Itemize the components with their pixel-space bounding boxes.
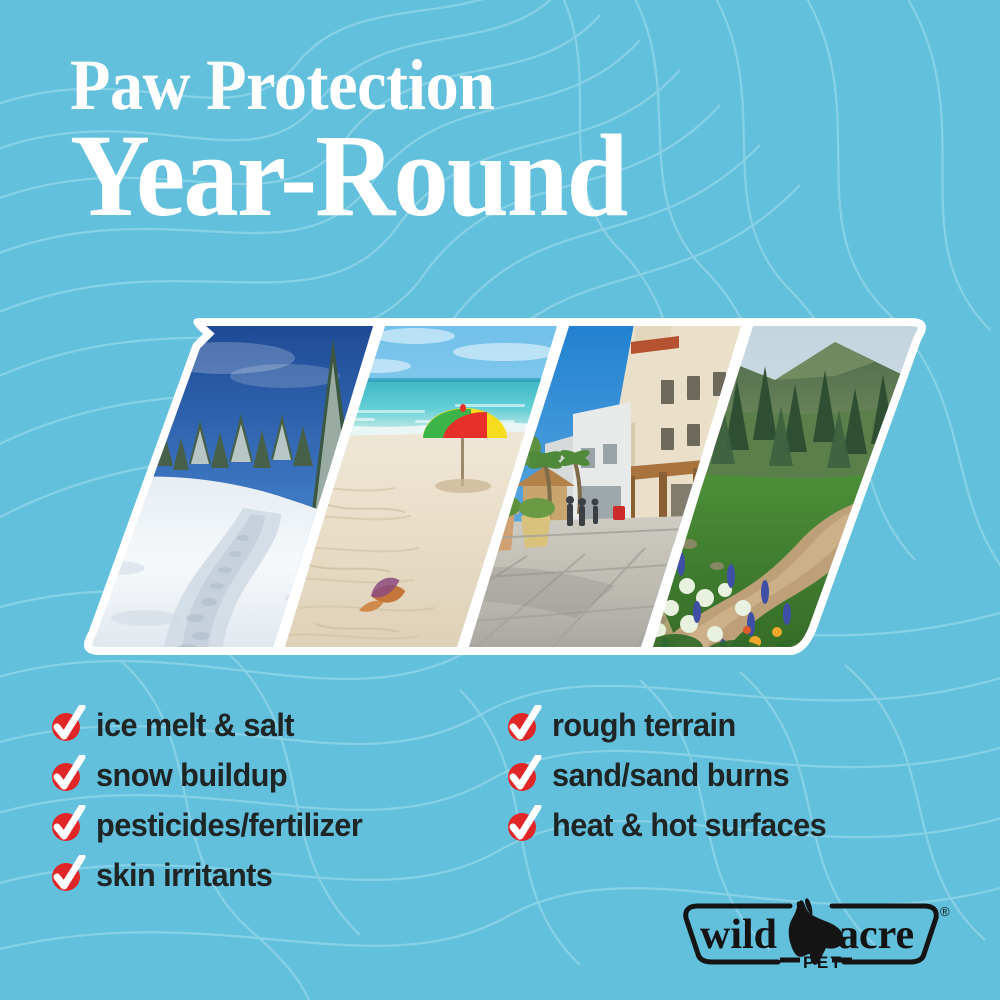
check-circle-icon bbox=[52, 860, 82, 890]
check-circle-icon bbox=[52, 810, 82, 840]
list-item-label: sand/sand burns bbox=[552, 757, 789, 794]
page-title: Paw Protection Year-Round bbox=[70, 52, 970, 232]
list-item: pesticides/fertilizer bbox=[52, 800, 512, 850]
brand-logo: wild acre PET ® bbox=[672, 898, 954, 978]
checklist-column-left: ice melt & salt snow buildup pesticides/… bbox=[52, 700, 512, 900]
headline-line-1: Paw Protection bbox=[70, 52, 898, 119]
check-circle-icon bbox=[52, 710, 82, 740]
logo-word-right: acre bbox=[838, 912, 914, 958]
headline-line-2: Year-Round bbox=[70, 121, 916, 232]
list-item: rough terrain bbox=[508, 700, 978, 750]
checklist-column-right: rough terrain sand/sand burns heat & hot… bbox=[508, 700, 978, 850]
logo-subtitle: PET bbox=[803, 953, 844, 972]
check-circle-icon bbox=[508, 810, 538, 840]
list-item-label: ice melt & salt bbox=[96, 707, 294, 744]
list-item: heat & hot surfaces bbox=[508, 800, 978, 850]
list-item-label: heat & hot surfaces bbox=[552, 807, 826, 844]
list-item: snow buildup bbox=[52, 750, 512, 800]
image-collage-strip bbox=[75, 318, 935, 655]
check-circle-icon bbox=[508, 760, 538, 790]
list-item: ice melt & salt bbox=[52, 700, 512, 750]
list-item-label: snow buildup bbox=[96, 757, 287, 794]
trademark-icon: ® bbox=[940, 904, 950, 919]
check-circle-icon bbox=[52, 760, 82, 790]
list-item-label: skin irritants bbox=[96, 857, 272, 894]
poster-canvas: Paw Protection Year-Round bbox=[0, 0, 1000, 1000]
logo-word-left: wild bbox=[700, 912, 777, 958]
list-item: skin irritants bbox=[52, 850, 512, 900]
list-item-label: rough terrain bbox=[552, 707, 736, 744]
list-item: sand/sand burns bbox=[508, 750, 978, 800]
check-circle-icon bbox=[508, 710, 538, 740]
benefits-checklist: ice melt & salt snow buildup pesticides/… bbox=[0, 700, 1000, 900]
list-item-label: pesticides/fertilizer bbox=[96, 807, 362, 844]
